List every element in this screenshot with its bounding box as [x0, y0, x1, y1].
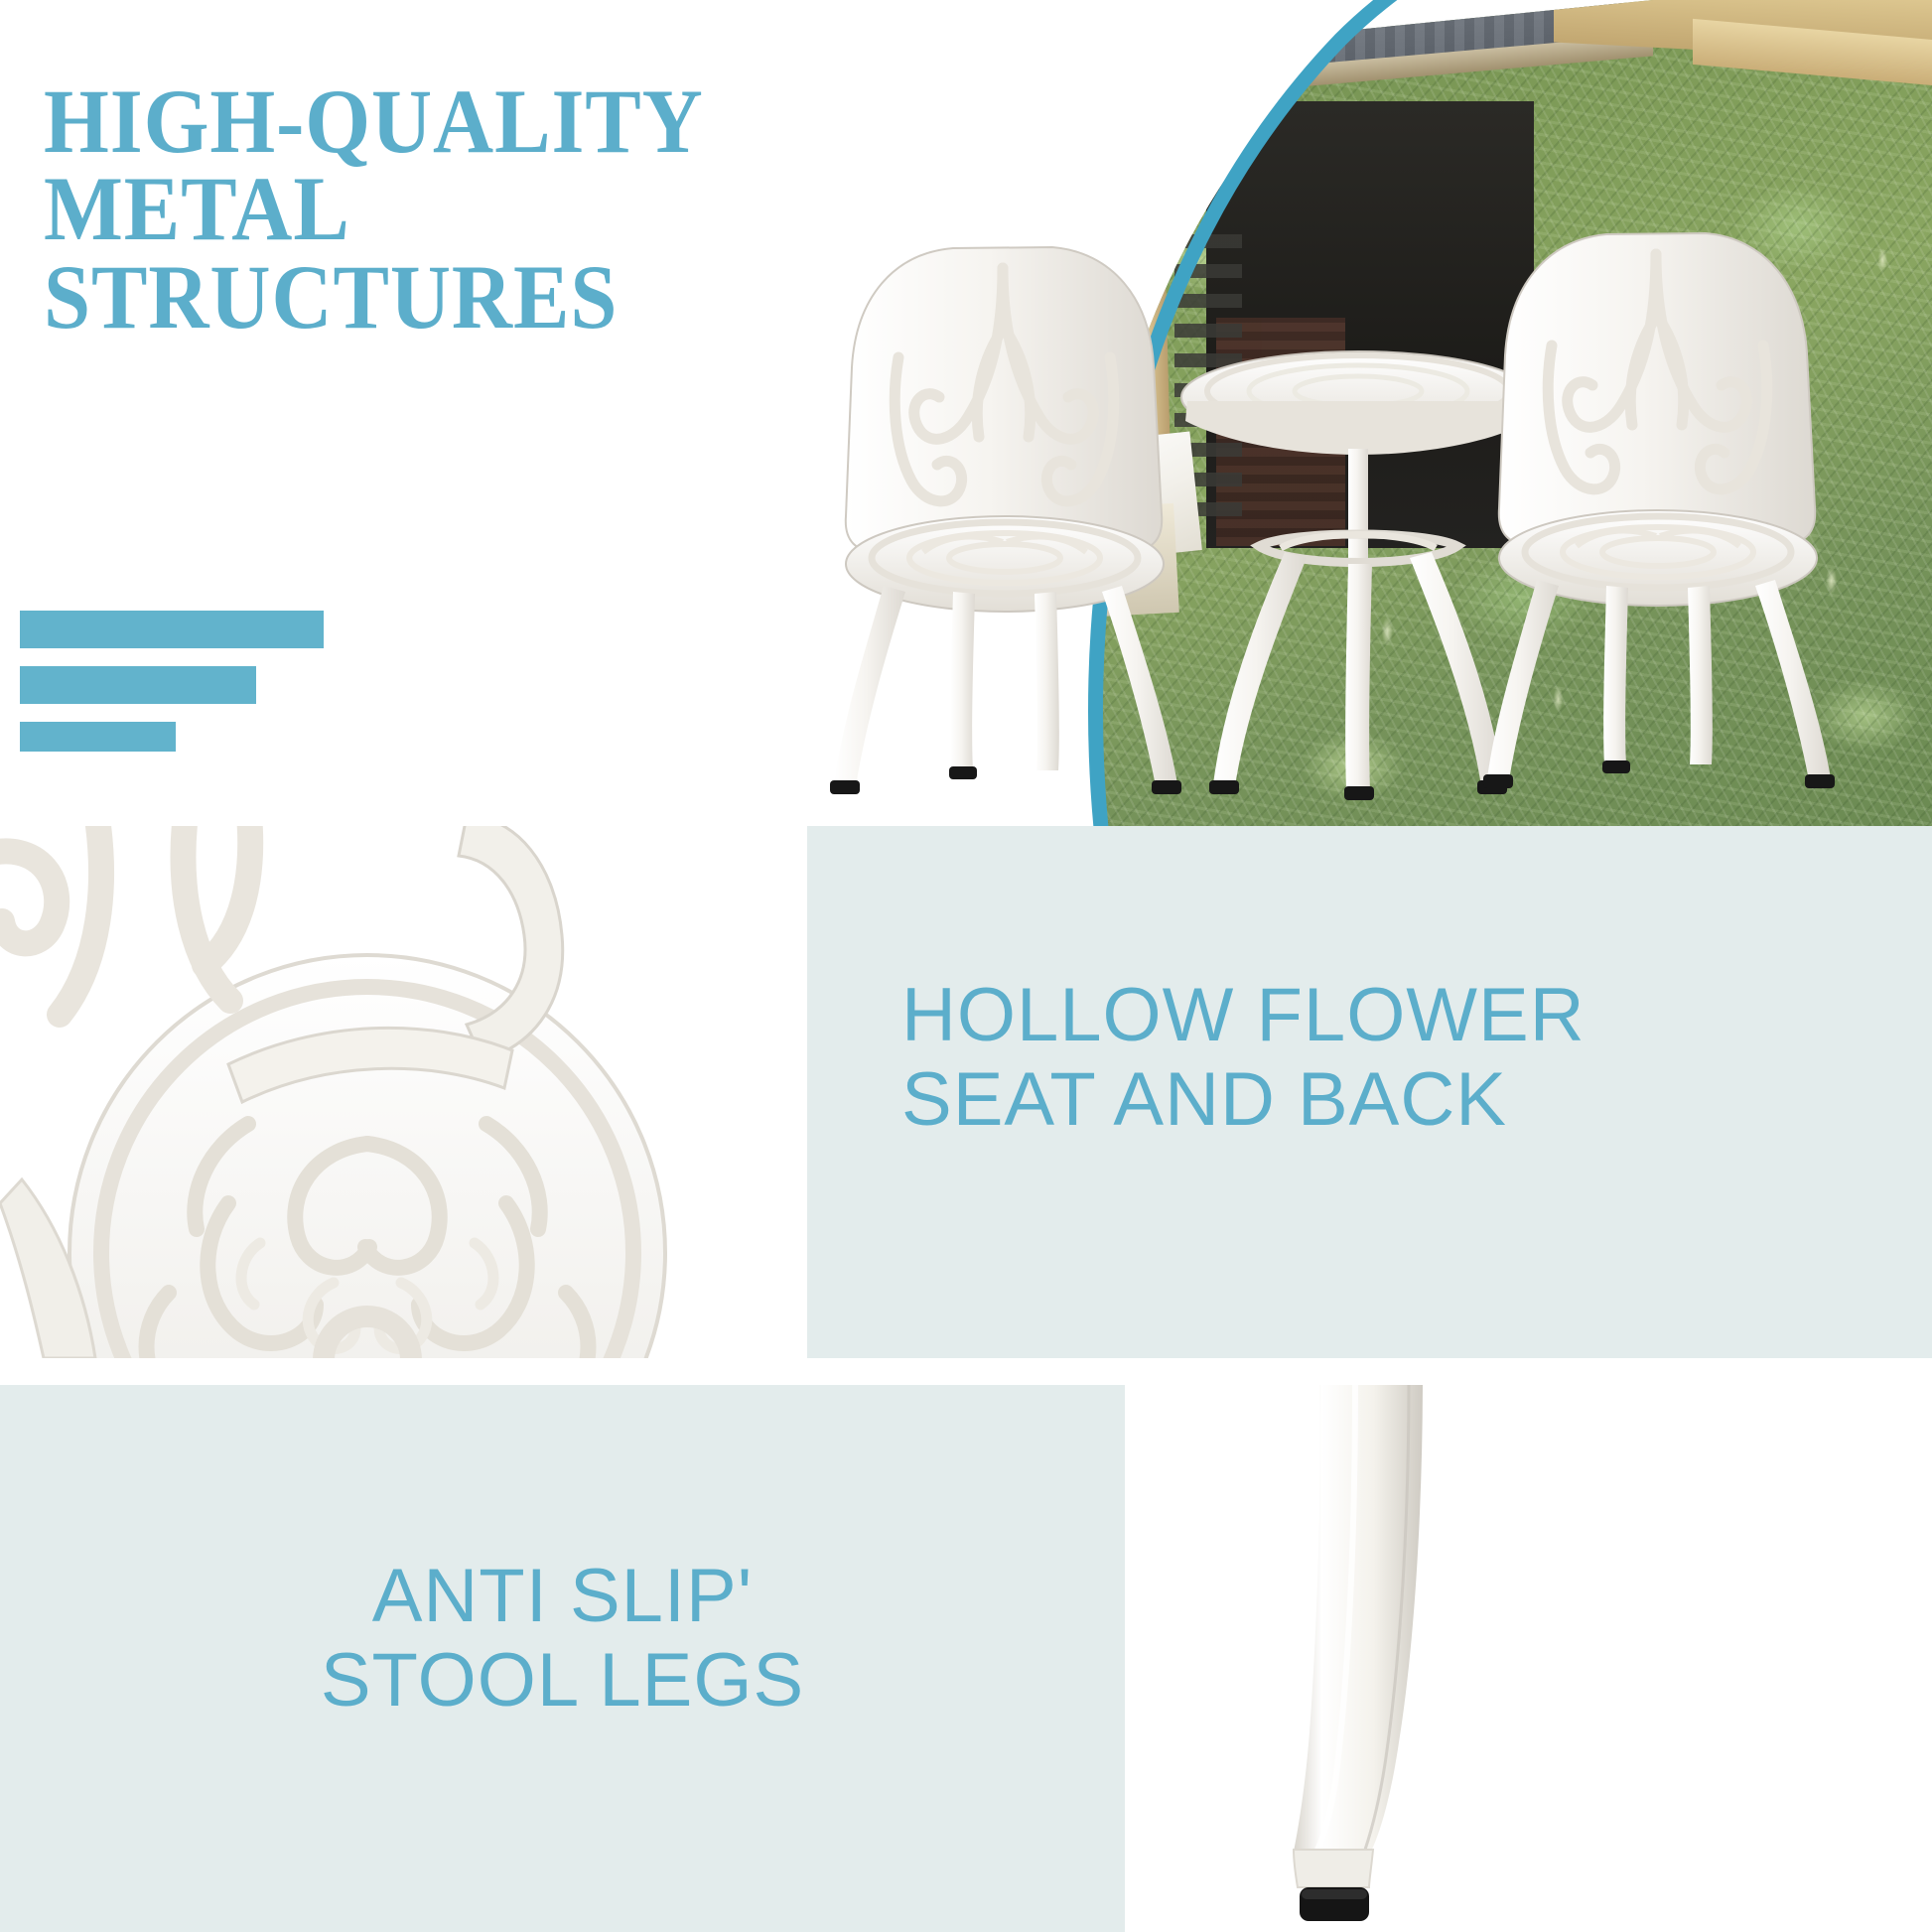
page-title: HIGH-QUALITY METAL STRUCTURES: [44, 77, 866, 341]
feature-middle-section: HOLLOW FLOWER SEAT AND BACK: [0, 826, 1932, 1358]
hollow-flower-panel: HOLLOW FLOWER SEAT AND BACK: [807, 826, 1932, 1358]
leg-closeup-photo: [1125, 1385, 1932, 1932]
hollow-flower-heading: HOLLOW FLOWER SEAT AND BACK: [901, 973, 1586, 1142]
seat-closeup-photo: [0, 826, 807, 1358]
decor-bar-1: [20, 611, 324, 648]
hero-section: HIGH-QUALITY METAL STRUCTURES: [0, 0, 1932, 826]
decor-bar-3: [20, 722, 176, 752]
hero-photo: [1097, 0, 1932, 826]
infographic-page: HIGH-QUALITY METAL STRUCTURES: [0, 0, 1932, 1932]
feature-bottom-section: ANTI SLIP' STOOL LEGS: [0, 1385, 1932, 1932]
decor-bar-2: [20, 666, 256, 704]
anti-slip-panel: ANTI SLIP' STOOL LEGS: [0, 1385, 1125, 1932]
anti-slip-heading: ANTI SLIP' STOOL LEGS: [0, 1554, 1125, 1723]
decor-bar-group: [20, 611, 324, 769]
